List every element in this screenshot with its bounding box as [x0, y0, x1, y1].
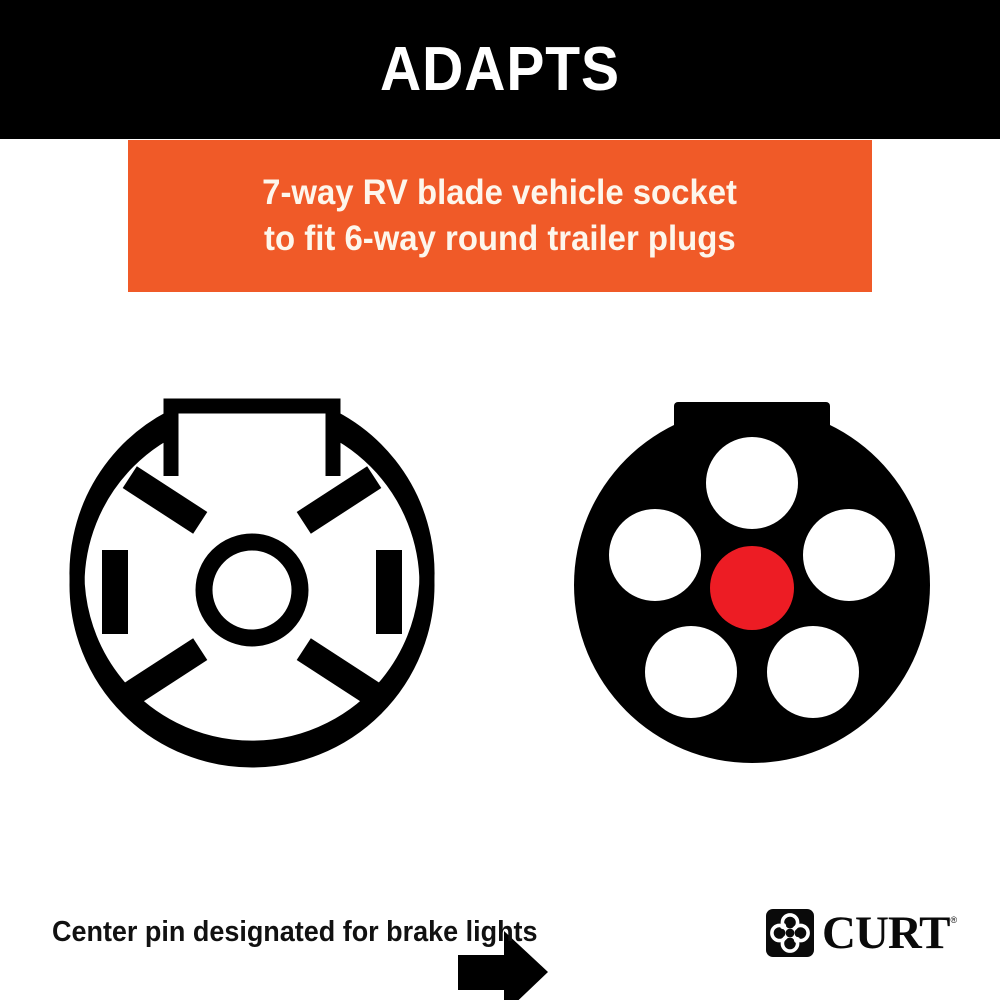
footer-caption: Center pin designated for brake lights — [52, 918, 538, 947]
brand-name: CURT — [822, 910, 950, 957]
left-connector-7way-blade — [62, 380, 442, 780]
subtitle-line-2: to fit 6-way round trailer plugs — [264, 216, 736, 262]
adapter-diagram — [0, 380, 1000, 800]
seven-way-blade-socket-icon — [62, 380, 442, 780]
subtitle-line-1: 7-way RV blade vehicle socket — [263, 170, 738, 216]
subtitle-banner: 7-way RV blade vehicle socket to fit 6-w… — [128, 140, 872, 292]
right-center-pin-brake-lights — [710, 546, 794, 630]
header-bar: ADAPTS — [0, 0, 1000, 139]
brand-wordmark: CURT ® — [822, 909, 957, 957]
right-connector-6way-round — [562, 380, 942, 780]
page-title: ADAPTS — [40, 0, 960, 139]
registered-trademark-icon: ® — [951, 915, 958, 925]
curt-quatrefoil-icon — [766, 909, 814, 957]
infographic-page: ADAPTS 7-way RV blade vehicle socket to … — [0, 0, 1000, 1000]
left-center-pin — [204, 542, 300, 638]
brand-logo: CURT ® — [766, 906, 950, 960]
six-way-round-plug-icon — [562, 380, 942, 780]
